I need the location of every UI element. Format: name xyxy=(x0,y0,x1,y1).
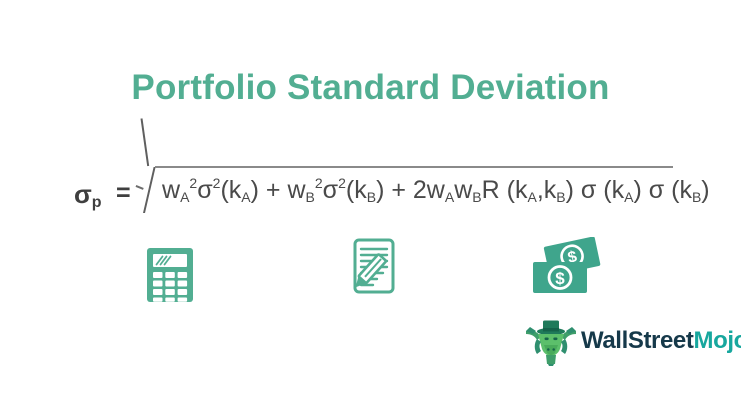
term2-w: w xyxy=(287,176,305,204)
term1-open-paren: (k xyxy=(220,176,241,204)
term3-correlation-R: R xyxy=(482,176,500,204)
calculator-icon xyxy=(146,247,194,303)
formula-lhs: σp xyxy=(74,179,102,212)
document-pencil-icon xyxy=(353,238,409,296)
logo-wordmark: WallStreetMojo xyxy=(581,327,741,355)
term1-w-subscript: A xyxy=(180,189,189,205)
term3-kb-subscript: B xyxy=(556,189,565,205)
term3-wa-subscript: A xyxy=(445,189,454,205)
term2-k-subscript: B xyxy=(367,189,376,205)
money-banknotes-icon: $ $ xyxy=(529,237,603,297)
term1-k-subscript: A xyxy=(241,189,250,205)
term2-sigma: σ xyxy=(323,176,338,204)
term5-k-subscript: B xyxy=(692,189,701,205)
term3-ka-subscript: A xyxy=(527,189,536,205)
wallstreetmojo-logo[interactable]: WallStreetMojo xyxy=(524,318,714,366)
svg-text:$: $ xyxy=(555,269,565,288)
term3-w2: w xyxy=(454,176,472,204)
radical-vinculum xyxy=(155,166,673,168)
formula-equals: = xyxy=(116,179,131,208)
term1-w: w xyxy=(162,176,180,204)
term2-open-paren: (k xyxy=(346,176,367,204)
page-title: Portfolio Standard Deviation xyxy=(0,68,741,108)
term3-close-paren: ) xyxy=(566,176,581,204)
term5-open-paren: (k xyxy=(664,176,692,204)
term2-w-subscript: B xyxy=(306,189,315,205)
term4-close-paren: ) xyxy=(633,176,648,204)
plus-operator-2: + xyxy=(391,176,406,204)
term3-coefficient: 2w xyxy=(413,176,445,204)
plus-operator-1: + xyxy=(266,176,281,204)
term1-close-paren: ) xyxy=(251,176,259,204)
term5-sigma: σ xyxy=(649,176,664,204)
term4-sigma: σ xyxy=(581,176,596,204)
logo-text-wallstreet: WallStreet xyxy=(581,327,693,354)
term4-open-paren: (k xyxy=(596,176,624,204)
term3-comma-k: ,k xyxy=(537,176,556,204)
logo-text-mojo: Mojo xyxy=(693,327,741,354)
term3-open-paren: (k xyxy=(500,176,528,204)
term2-sigma-exponent: 2 xyxy=(338,175,346,191)
term3-wb-subscript: B xyxy=(472,189,481,205)
term1-sigma: σ xyxy=(197,176,212,204)
term2-close-paren: ) xyxy=(376,176,384,204)
term2-w-exponent: 2 xyxy=(315,175,323,191)
lhs-sigma: σ xyxy=(74,179,92,209)
formula-radicand: wA2σ2(kA) + wB2σ2(kB) + 2wAwBR (kA,kB) σ… xyxy=(162,176,710,205)
formula-block: σp = wA2σ2(kA) + wB2σ2(kB) + 2wAwBR (kA,… xyxy=(74,163,684,221)
bull-mascot-icon xyxy=(524,318,578,366)
term5-close-paren: ) xyxy=(701,176,709,204)
lhs-subscript: p xyxy=(92,194,102,211)
